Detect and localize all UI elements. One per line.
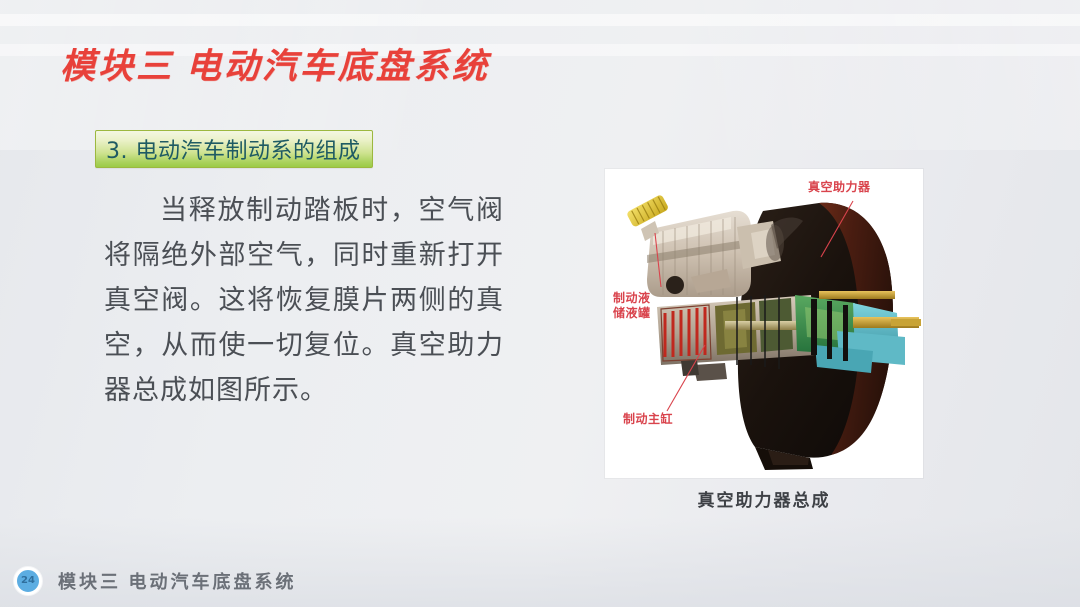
vacuum-booster-photo: 真空助力器 制动液 储液罐 制动主缸 — [605, 169, 923, 478]
callout-reservoir-line2: 储液罐 — [613, 306, 651, 321]
section-heading-chip: 3. 电动汽车制动系的组成 — [95, 130, 373, 168]
footer-title: 模块三 电动汽车底盘系统 — [58, 568, 297, 594]
slide-canvas: 模块三 电动汽车底盘系统 3. 电动汽车制动系的组成 当释放制动踏板时，空气阀将… — [0, 0, 1080, 607]
page-number: 24 — [21, 576, 35, 586]
body-paragraph: 当释放制动踏板时，空气阀将隔绝外部空气，同时重新打开真空阀。这将恢复膜片两侧的真… — [104, 188, 504, 413]
figure-caption: 真空助力器总成 — [605, 486, 923, 511]
page-number-badge: 24 — [14, 567, 42, 595]
page-title: 模块三 电动汽车底盘系统 — [60, 38, 490, 89]
callout-reservoir-line1: 制动液 — [613, 291, 651, 306]
booster-assembly-illustration — [605, 169, 923, 478]
section-heading-label: 3. 电动汽车制动系的组成 — [106, 133, 360, 165]
slide-footer: 24 模块三 电动汽车底盘系统 — [0, 555, 1080, 607]
figure-block: 真空助力器 制动液 储液罐 制动主缸 真空助力器总成 — [605, 169, 923, 511]
callout-master-cylinder: 制动主缸 — [623, 412, 673, 427]
callout-vacuum-booster: 真空助力器 — [808, 180, 871, 195]
callout-brake-fluid-reservoir: 制动液 储液罐 — [613, 291, 651, 321]
